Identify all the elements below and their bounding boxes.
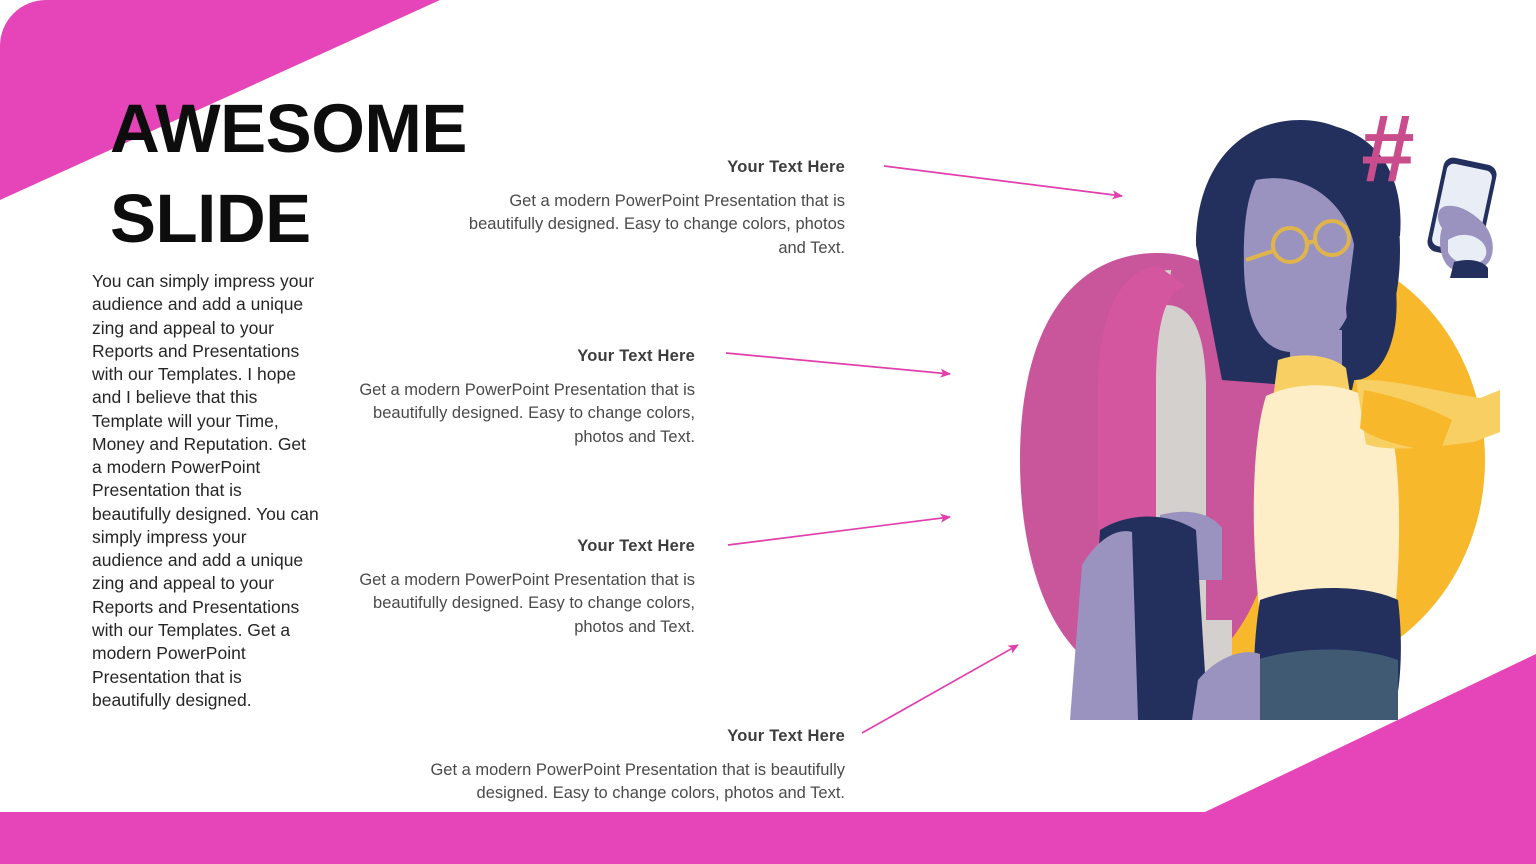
callout-title-1: Your Text Here <box>440 158 845 177</box>
callout-body-2: Get a modern PowerPoint Presentation tha… <box>330 379 695 449</box>
arrow-2 <box>726 353 950 374</box>
callout-title-3: Your Text Here <box>330 537 695 556</box>
presentation-slide: AWESOME SLIDE You can simply impress you… <box>0 0 1536 864</box>
callout-block-4: Your Text Here Get a modern PowerPoint P… <box>415 727 845 806</box>
arrow-4 <box>862 645 1018 733</box>
callout-body-3: Get a modern PowerPoint Presentation tha… <box>330 569 695 639</box>
callout-title-2: Your Text Here <box>330 347 695 366</box>
callout-body-1: Get a modern PowerPoint Presentation tha… <box>440 190 845 260</box>
left-body-paragraph: You can simply impress your audience and… <box>92 270 320 712</box>
arrow-1 <box>884 166 1122 196</box>
callout-block-1: Your Text Here Get a modern PowerPoint P… <box>440 158 845 260</box>
callout-title-4: Your Text Here <box>415 727 845 746</box>
callout-block-3: Your Text Here Get a modern PowerPoint P… <box>330 537 695 639</box>
title-line-1: AWESOME <box>110 90 467 167</box>
callout-block-2: Your Text Here Get a modern PowerPoint P… <box>330 347 695 449</box>
callout-body-4: Get a modern PowerPoint Presentation tha… <box>415 759 845 806</box>
arrow-3 <box>728 517 950 545</box>
